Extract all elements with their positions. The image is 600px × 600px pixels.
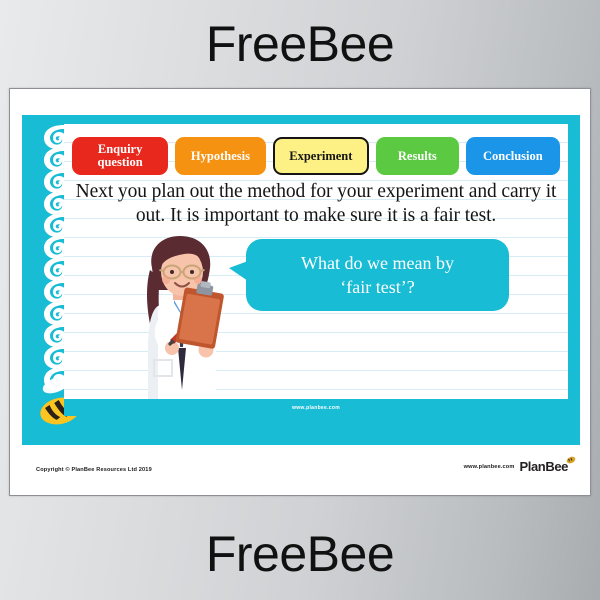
stage-button-results[interactable]: Results: [376, 137, 459, 175]
planbee-logo: PlanBee: [519, 459, 568, 474]
brand-url[interactable]: www.planbee.com: [464, 464, 515, 470]
freebee-banner-top: FreeBee: [0, 0, 600, 88]
stage-button-experiment[interactable]: Experiment: [273, 137, 369, 175]
notebook-frame: Enquiry question Hypothesis Experiment R…: [22, 115, 580, 445]
copyright-text: Copyright © PlanBee Resources Ltd 2019: [36, 467, 152, 473]
stage-button-group: Enquiry question Hypothesis Experiment R…: [72, 136, 560, 176]
paper-footer-bar: www.planbee.com: [64, 399, 568, 416]
notebook-paper: Enquiry question Hypothesis Experiment R…: [64, 124, 568, 416]
brand-footer: www.planbee.com PlanBee: [464, 459, 568, 474]
freebee-banner-top-label: FreeBee: [206, 15, 394, 73]
worksheet-card: Enquiry question Hypothesis Experiment R…: [9, 88, 591, 496]
stage-button-hypothesis[interactable]: Hypothesis: [175, 137, 265, 175]
freebee-banner-bottom: FreeBee: [0, 508, 600, 600]
freebee-banner-bottom-label: FreeBee: [206, 525, 394, 583]
speech-bubble-text: What do we mean by ‘fair test’?: [301, 251, 454, 299]
planbee-logo-bee-icon: [565, 452, 577, 463]
screenshot-page: FreeBee: [0, 0, 600, 600]
paper-footer-url[interactable]: www.planbee.com: [292, 405, 340, 411]
instruction-text: Next you plan out the method for your ex…: [72, 180, 560, 228]
stage-button-enquiry-question[interactable]: Enquiry question: [72, 137, 168, 175]
scientist-illustration: [118, 228, 246, 400]
speech-bubble: What do we mean by ‘fair test’?: [246, 239, 509, 311]
stage-button-conclusion[interactable]: Conclusion: [466, 137, 560, 175]
planbee-logo-label: PlanBee: [519, 459, 568, 474]
